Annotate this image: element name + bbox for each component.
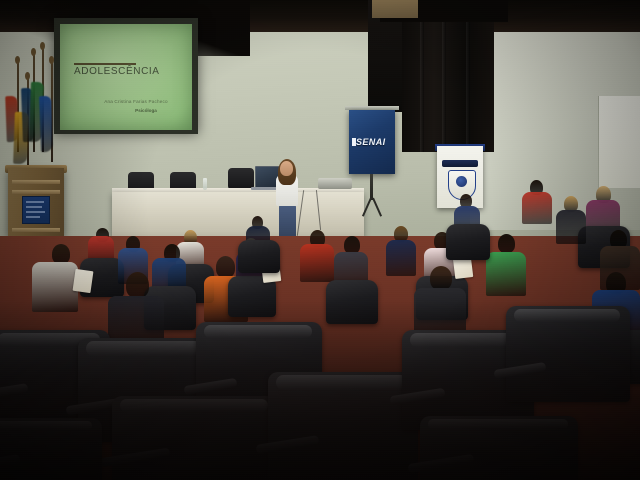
slide-divider-rule bbox=[74, 63, 136, 65]
flag bbox=[39, 96, 53, 152]
audience-head bbox=[216, 256, 235, 278]
crest-emblem-icon bbox=[456, 176, 467, 187]
tripod-pole bbox=[370, 174, 373, 200]
audience-head bbox=[52, 244, 70, 264]
audience-head bbox=[126, 272, 149, 298]
ceiling-beam bbox=[372, 0, 418, 18]
crest-ribbon bbox=[442, 160, 478, 167]
flag-finial-icon bbox=[40, 42, 45, 50]
audience-person bbox=[386, 240, 416, 276]
audience-person bbox=[522, 192, 552, 224]
photo-scene: ADOLESCÊNCIA Ana Cristina Farias Pacheco… bbox=[0, 0, 640, 480]
flag-finial-icon bbox=[31, 48, 36, 56]
audience-chair bbox=[238, 240, 280, 273]
audience-person bbox=[300, 244, 334, 282]
audience-person bbox=[556, 210, 586, 244]
senai-banner-label: SENAI bbox=[356, 137, 396, 147]
handout-paper bbox=[73, 269, 94, 293]
slide-title: ADOLESCÊNCIA bbox=[74, 66, 184, 77]
floor-shadow bbox=[0, 300, 640, 480]
stage-curtain bbox=[402, 0, 494, 152]
wall-whiteboard bbox=[598, 96, 640, 188]
lectern-plaque bbox=[22, 196, 50, 224]
projector bbox=[318, 178, 352, 189]
flag-finial-icon bbox=[49, 56, 54, 64]
slide-role: Psicóloga bbox=[108, 108, 184, 113]
presenter-head bbox=[280, 161, 293, 176]
slide-author: Ana Cristina Farias Pacheco bbox=[88, 99, 184, 104]
audience-chair bbox=[446, 224, 490, 260]
head-table-cloth bbox=[112, 192, 364, 240]
projection-screen bbox=[60, 24, 192, 130]
audience-head bbox=[430, 266, 452, 290]
flag-finial-icon bbox=[15, 56, 20, 64]
flag-finial-icon bbox=[25, 72, 30, 80]
audience-person bbox=[486, 252, 526, 296]
audience-head bbox=[498, 234, 515, 253]
water-bottle bbox=[203, 178, 207, 190]
